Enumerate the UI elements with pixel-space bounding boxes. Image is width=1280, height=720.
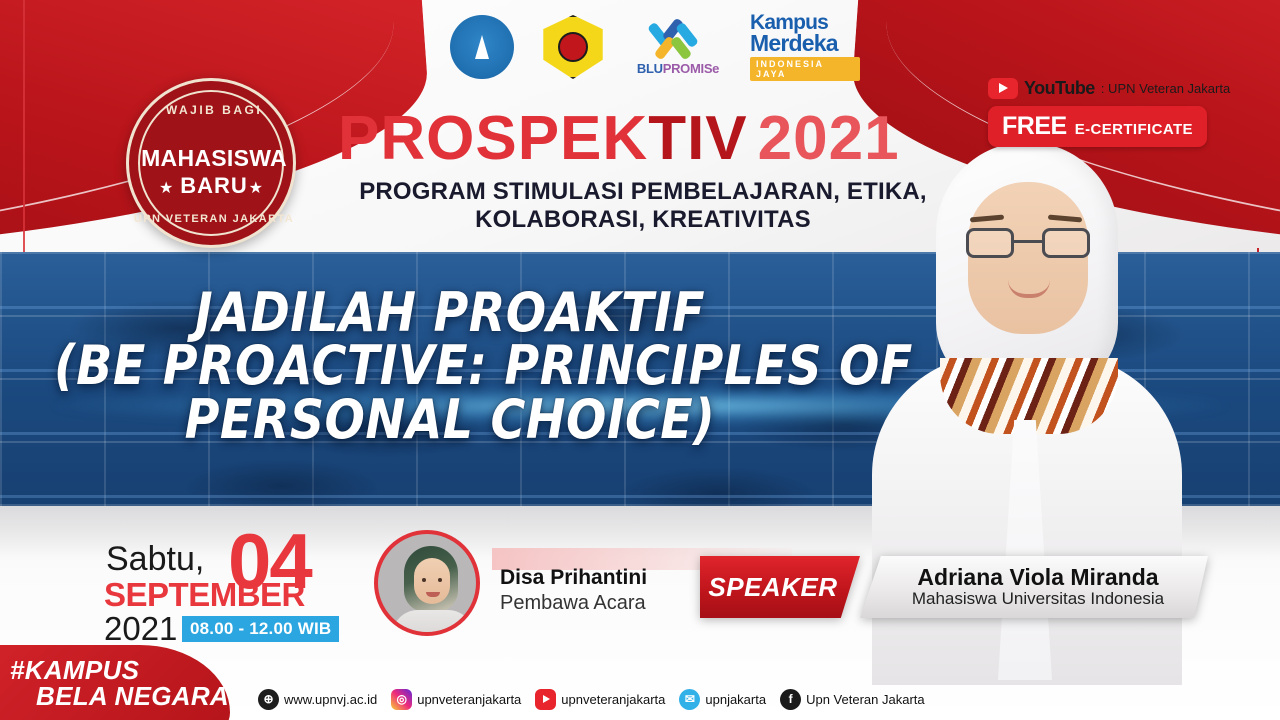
- mc-eye-right: [438, 578, 442, 582]
- youtube-icon: [535, 689, 556, 710]
- kampus-merdeka-tagline: INDONESIA JAYA: [750, 57, 860, 81]
- blu-mark-icon: [652, 18, 704, 60]
- speaker-glasses-icon: [966, 228, 1090, 258]
- instagram-icon: ◎: [391, 689, 412, 710]
- wajib-bagi-seal: WAJIB BAGI MAHASISWA BARU ★ ★ UPN VETERA…: [126, 78, 296, 248]
- seal-line-2: BARU: [129, 173, 299, 199]
- headline-line-2: (BE PROACTIVE: PRINCIPLES OF: [54, 339, 846, 392]
- youtube-icon: [988, 78, 1018, 99]
- speaker-name: Adriana Viola Miranda: [917, 565, 1158, 589]
- event-title-part-1: PROSPEK: [338, 104, 648, 173]
- event-title-year: 2021: [758, 104, 900, 173]
- youtube-wordmark: YouTube: [1024, 78, 1095, 99]
- social-item-twitter[interactable]: ✉ upnjakarta: [679, 689, 766, 710]
- headline-line-1: JADILAH PROAKTIF: [54, 286, 846, 339]
- social-item-facebook[interactable]: f Upn Veteran Jakarta: [780, 689, 925, 710]
- youtube-channel-row[interactable]: YouTube : UPN Veteran Jakarta: [988, 78, 1230, 99]
- event-title: PROSPEKTIV2021: [338, 108, 900, 170]
- seal-line-1: MAHASISWA: [129, 145, 299, 172]
- glasses-lens-right: [1042, 228, 1090, 258]
- speaker-affiliation: Mahasiswa Universitas Indonesia: [912, 589, 1164, 609]
- headline: JADILAH PROAKTIF (BE PROACTIVE: PRINCIPL…: [54, 286, 846, 446]
- promise-text: PROMISe: [663, 61, 719, 76]
- youtube-channel-name: : UPN Veteran Jakarta: [1101, 81, 1230, 96]
- instagram-label: upnveteranjakarta: [417, 692, 521, 707]
- social-media-bar: ⊕ www.upnvj.ac.id ◎ upnveteranjakarta up…: [258, 686, 925, 712]
- speaker-face: [968, 182, 1088, 334]
- e-certificate-label: E-CERTIFICATE: [1075, 121, 1193, 138]
- facebook-icon: f: [780, 689, 801, 710]
- facebook-label: Upn Veteran Jakarta: [806, 692, 925, 707]
- headline-line-3: PERSONAL CHOICE): [54, 393, 846, 446]
- event-day-name: Sabtu,: [106, 540, 204, 579]
- kampus-merdeka-logo: Kampus Merdeka INDONESIA JAYA: [750, 13, 860, 80]
- event-year: 2021: [104, 610, 177, 648]
- youtube-label: upnveteranjakarta: [561, 692, 665, 707]
- flame-icon: [475, 35, 489, 59]
- free-certificate-badge: FREE E-CERTIFICATE: [988, 106, 1207, 147]
- event-subtitle: PROGRAM STIMULASI PEMBELAJARAN, ETIKA, K…: [338, 178, 948, 233]
- mc-avatar: [374, 530, 480, 636]
- event-title-part-2: TIV: [648, 104, 747, 173]
- social-item-youtube[interactable]: upnveteranjakarta: [535, 689, 665, 710]
- blu-text: BLU: [637, 61, 663, 76]
- upn-veteran-jakarta-logo: [540, 15, 606, 79]
- twitter-label: upnjakarta: [705, 692, 766, 707]
- event-subtitle-line-1: PROGRAM STIMULASI PEMBELAJARAN, ETIKA,: [338, 178, 948, 206]
- mc-face: [414, 558, 450, 604]
- website-icon: ⊕: [258, 689, 279, 710]
- social-item-website[interactable]: ⊕ www.upnvj.ac.id: [258, 689, 377, 710]
- event-date-block: Sabtu, 04 SEPTEMBER 2021 08.00 - 12.00 W…: [96, 528, 366, 638]
- mc-eye-left: [422, 578, 426, 582]
- partner-logo-row: BLUPROMISe Kampus Merdeka INDONESIA JAYA: [450, 8, 860, 86]
- glasses-bridge: [1014, 240, 1042, 243]
- speaker-info: Adriana Viola Miranda Mahasiswa Universi…: [860, 556, 1208, 618]
- speaker-banner: SPEAKER Adriana Viola Miranda Mahasiswa …: [700, 556, 1208, 618]
- tut-wuri-handayani-logo: [450, 15, 514, 79]
- mc-avatar-image: [378, 534, 476, 632]
- seal-star-right-icon: ★: [249, 178, 263, 198]
- mc-role: Pembawa Acara: [500, 592, 646, 615]
- event-month: SEPTEMBER: [104, 576, 305, 614]
- upn-crest-icon: [558, 32, 588, 62]
- seal-star-left-icon: ★: [159, 178, 173, 198]
- seal-arc-bottom: UPN VETERAN JAKARTA: [129, 213, 299, 225]
- social-item-instagram[interactable]: ◎ upnveteranjakarta: [391, 689, 521, 710]
- free-label: FREE: [1002, 112, 1067, 141]
- hashtag-line-2: BELA NEGARA: [36, 681, 229, 712]
- mc-name: Disa Prihantini: [500, 566, 647, 590]
- poster-canvas: JADILAH PROAKTIF (BE PROACTIVE: PRINCIPL…: [0, 0, 1280, 720]
- blu-promise-wordmark: BLUPROMISe: [637, 61, 719, 76]
- seal-arc-top: WAJIB BAGI: [129, 103, 299, 117]
- glasses-lens-left: [966, 228, 1014, 258]
- event-subtitle-line-2: KOLABORASI, KREATIVITAS: [338, 206, 948, 234]
- blu-promise-logo: BLUPROMISe: [632, 12, 724, 82]
- kampus-merdeka-line-2: Merdeka: [750, 33, 838, 55]
- event-time-badge: 08.00 - 12.00 WIB: [182, 616, 339, 642]
- twitter-icon: ✉: [679, 689, 700, 710]
- speaker-tab-label: SPEAKER: [708, 572, 851, 603]
- speaker-tab: SPEAKER: [700, 556, 860, 618]
- website-label: www.upnvj.ac.id: [284, 692, 377, 707]
